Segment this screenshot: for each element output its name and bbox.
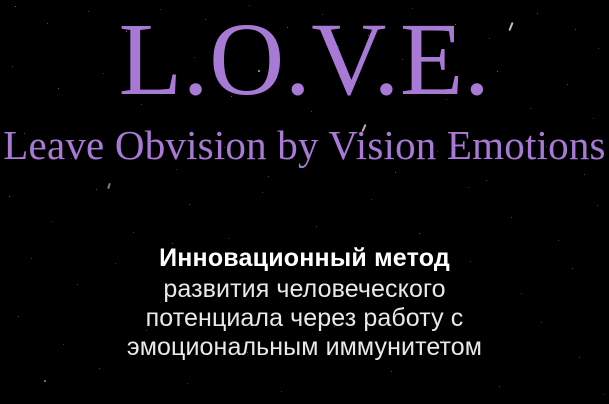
pitch-line-2: потенциала через работу с xyxy=(0,304,609,333)
love-brand-poster: L.O.V.E. Leave Obvision by Vision Emotio… xyxy=(0,0,609,404)
poster-content: L.O.V.E. Leave Obvision by Vision Emotio… xyxy=(0,0,609,404)
pitch-line-1: развития человеческого xyxy=(0,275,609,304)
pitch-block: Инновационный метод развития человеческо… xyxy=(0,244,609,362)
pitch-line-3: эмоциональным иммунитетом xyxy=(0,333,609,362)
brand-title: L.O.V.E. xyxy=(0,7,609,113)
pitch-headline: Инновационный метод xyxy=(0,244,609,275)
brand-tagline: Leave Obvision by Vision Emotions xyxy=(0,123,609,168)
